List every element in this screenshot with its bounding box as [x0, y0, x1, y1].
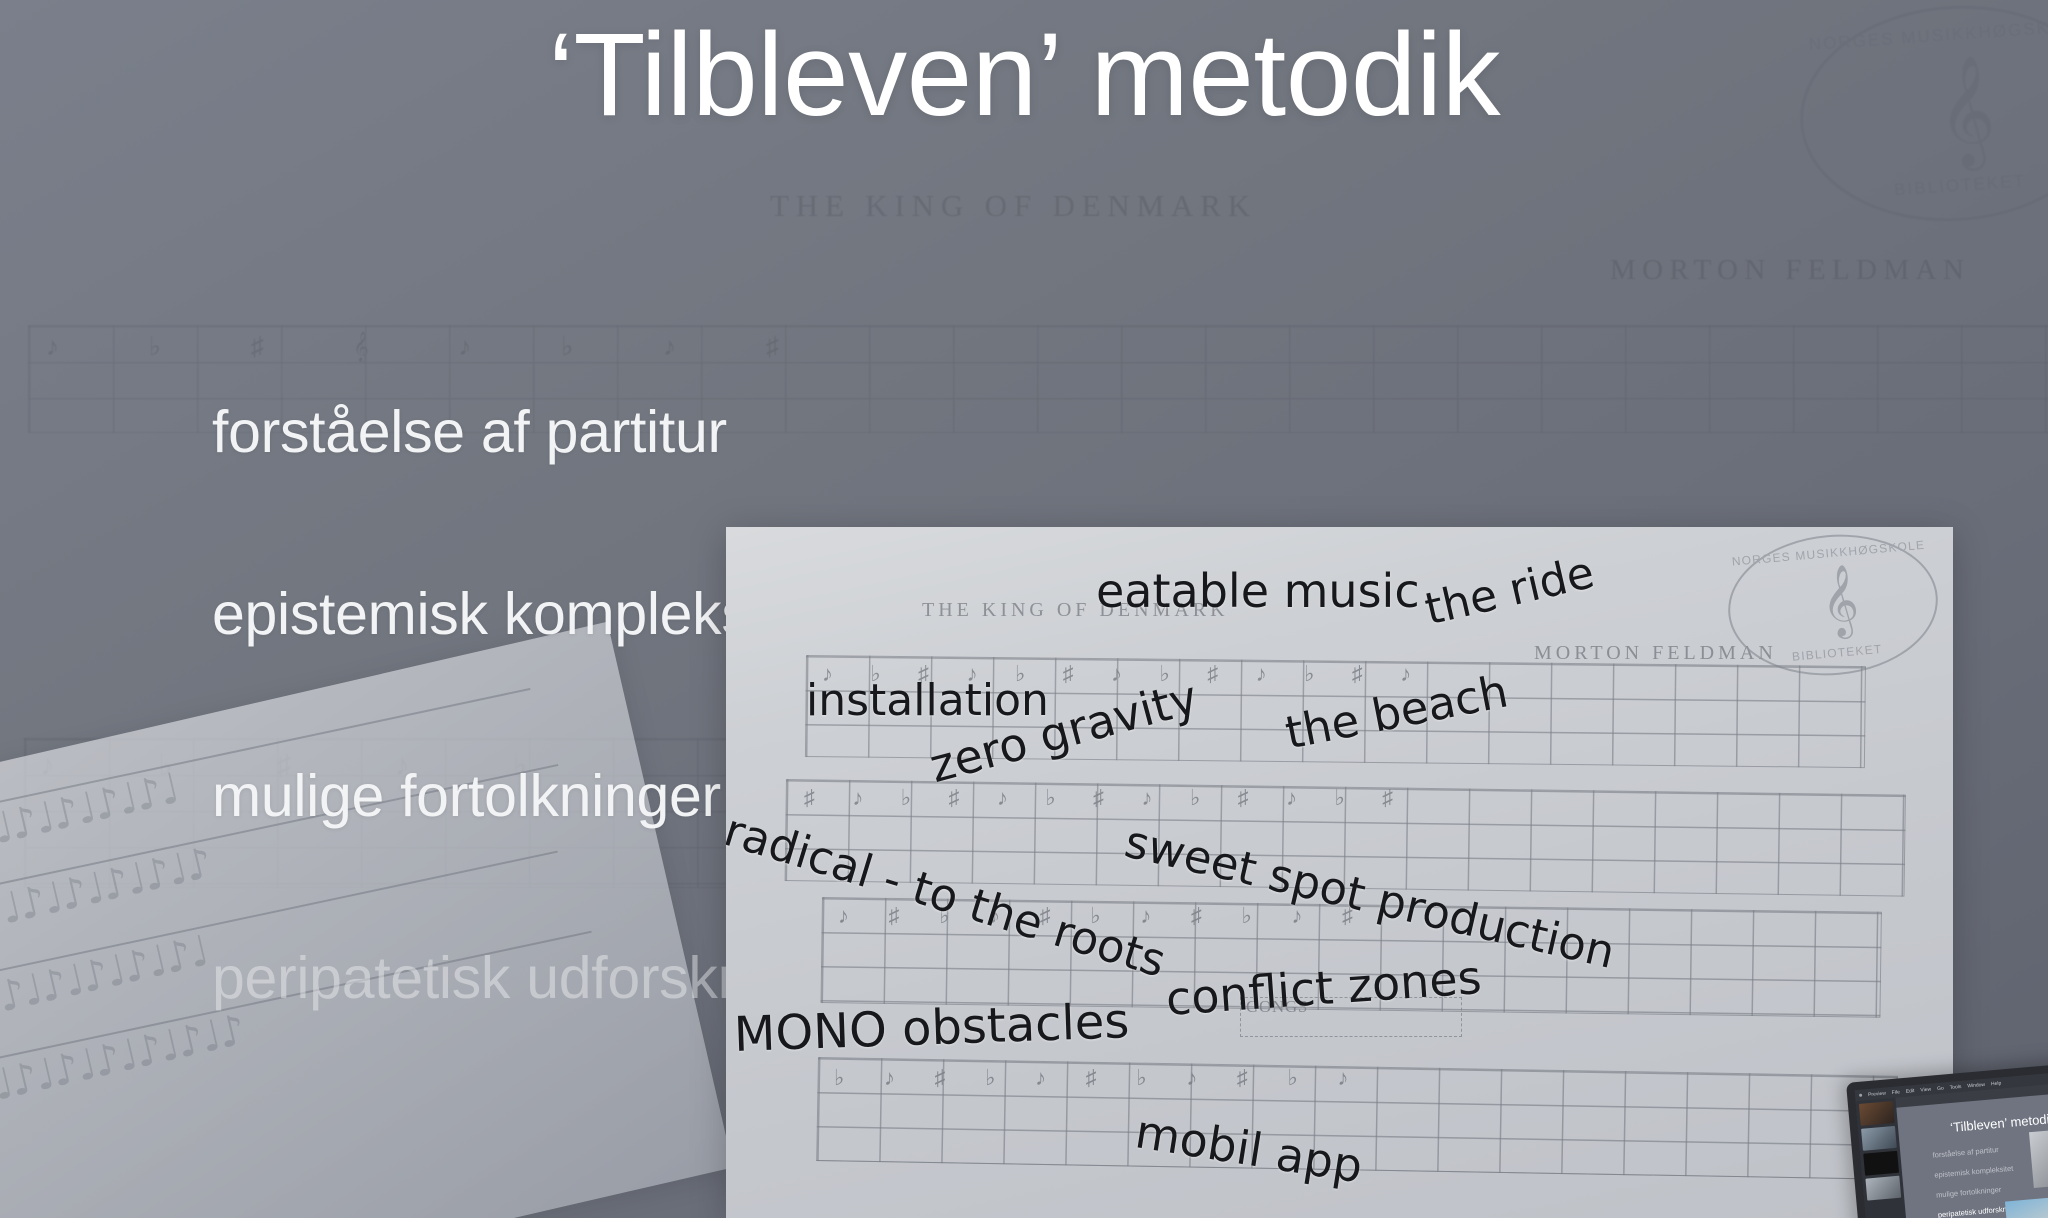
- menu-item-file[interactable]: File: [1892, 1089, 1901, 1096]
- laptop-screen: Preview File Edit View Go Tools Window H…: [1855, 1069, 2048, 1218]
- laptop-bullet-item-3: mulige fortolkninger: [1936, 1184, 2016, 1200]
- page-title: ‘Tilbleven’ metodik: [0, 8, 2048, 144]
- panel-library-stamp: NORGES MUSIKKHØGSKOLE 𝄞 BIBLIOTEKET: [1722, 527, 1943, 684]
- panel-stamp-top-text: NORGES MUSIKKHØGSKOLE: [1725, 537, 1931, 569]
- menu-item-go[interactable]: Go: [1937, 1085, 1944, 1092]
- cloud-word: MONO obstacles: [733, 993, 1130, 1063]
- menu-item-edit[interactable]: Edit: [1906, 1088, 1915, 1095]
- cloud-word: conflict zones: [1164, 950, 1483, 1026]
- sidebar-thumbnail[interactable]: [1865, 1176, 1901, 1201]
- sidebar-thumbnail[interactable]: [1861, 1126, 1897, 1151]
- menu-item-preview[interactable]: Preview: [1868, 1090, 1886, 1098]
- laptop-bullet-item-1: forståelse af partitur: [1932, 1144, 2012, 1160]
- cloud-word: the beach: [1281, 665, 1512, 760]
- panel-glyph-row: ♯♪♭♯♪♭♯♪♭♯♪♭♯: [804, 785, 1431, 811]
- panel-glyph-row: ♭♪♯♭♪♯♭♪♯♭♪: [834, 1065, 1388, 1091]
- cloud-word: the ride: [1420, 547, 1599, 635]
- panel-score-composer: MORTON FELDMAN: [1534, 642, 1777, 665]
- panel-stamp-bottom-text: BIBLIOTEKET: [1734, 637, 1940, 669]
- cloud-word: radical - to the roots: [726, 803, 1172, 988]
- treble-clef-icon: 𝄞: [1789, 566, 1897, 637]
- laptop-bullet-item-2: epistemisk kompleksitet: [1934, 1164, 2014, 1180]
- library-stamp-bottom-text: BIBLIOTEKET: [1808, 165, 2048, 206]
- preview-document-area: ‘Tilbleven’ metodik forståelse af partit…: [1896, 1090, 2048, 1218]
- background-score-work-title: THE KING OF DENMARK: [770, 188, 1257, 224]
- word-cloud-panel: THE KING OF DENMARK MORTON FELDMAN NORGE…: [726, 527, 1953, 1218]
- menu-item-help[interactable]: Help: [1991, 1080, 2002, 1087]
- score-glyph-row: ♪ ♭ ♯ 𝄞 ♪ ♭ ♪ ♯: [46, 332, 820, 363]
- menu-item-view[interactable]: View: [1920, 1086, 1931, 1093]
- apple-menu-icon[interactable]: [1859, 1094, 1862, 1097]
- cloud-word: mobil app: [1132, 1104, 1367, 1193]
- cloud-word: sweet spot production: [1120, 815, 1620, 979]
- laptop-preview-thumbnail: Preview File Edit View Go Tools Window H…: [1846, 1060, 2048, 1218]
- slide-canvas: THE KING OF DENMARK MORTON FELDMAN NORGE…: [0, 0, 2048, 1218]
- cloud-word: eatable music: [1096, 564, 1420, 618]
- sidebar-thumbnail[interactable]: [1859, 1101, 1895, 1126]
- laptop-window-body: ‘Tilbleven’ metodik forståelse af partit…: [1856, 1080, 2048, 1218]
- laptop-slide-image-score: [2029, 1126, 2048, 1188]
- menu-item-tools[interactable]: Tools: [1949, 1083, 1961, 1090]
- background-score-composer: MORTON FELDMAN: [1610, 254, 1970, 287]
- sidebar-thumbnail[interactable]: [1863, 1151, 1899, 1176]
- menu-item-window[interactable]: Window: [1967, 1081, 1985, 1089]
- bullet-item-1: forståelse af partitur: [212, 398, 828, 466]
